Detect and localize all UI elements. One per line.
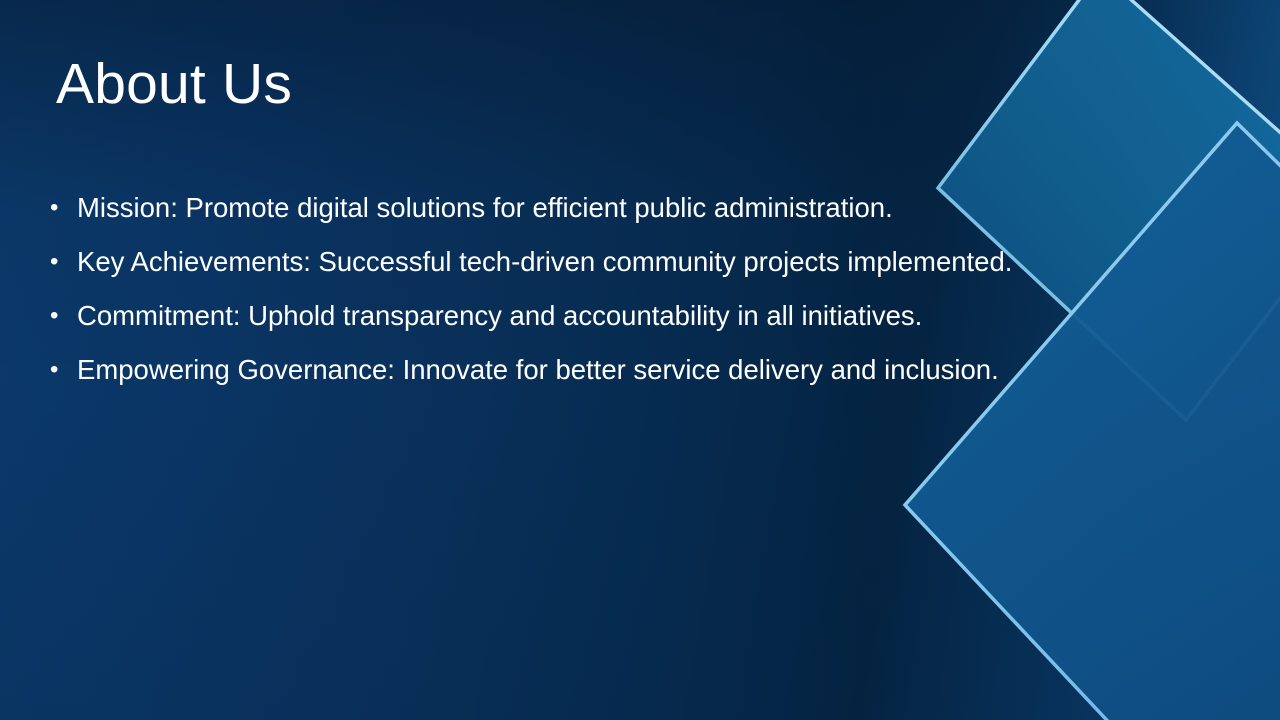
- bullet-marker-icon: •: [50, 186, 77, 230]
- bullet-item-3: • Commitment: Uphold transparency and ac…: [50, 294, 1230, 348]
- slide-title: About Us: [56, 52, 292, 118]
- bullet-text-2: Key Achievements: Successful tech-driven…: [77, 240, 1012, 284]
- bullet-item-2: • Key Achievements: Successful tech-driv…: [50, 240, 1230, 294]
- bullet-text-4: Empowering Governance: Innovate for bett…: [77, 348, 999, 392]
- bullet-marker-icon: •: [50, 294, 77, 338]
- slide-canvas: About Us • Mission: Promote digital solu…: [0, 0, 1280, 720]
- bullet-item-4: • Empowering Governance: Innovate for be…: [50, 348, 1230, 402]
- bullet-list: • Mission: Promote digital solutions for…: [50, 186, 1230, 402]
- bullet-marker-icon: •: [50, 348, 77, 392]
- bullet-text-3: Commitment: Uphold transparency and acco…: [77, 294, 922, 338]
- bullet-item-1: • Mission: Promote digital solutions for…: [50, 186, 1230, 240]
- bullet-text-1: Mission: Promote digital solutions for e…: [77, 186, 893, 230]
- bullet-marker-icon: •: [50, 240, 77, 284]
